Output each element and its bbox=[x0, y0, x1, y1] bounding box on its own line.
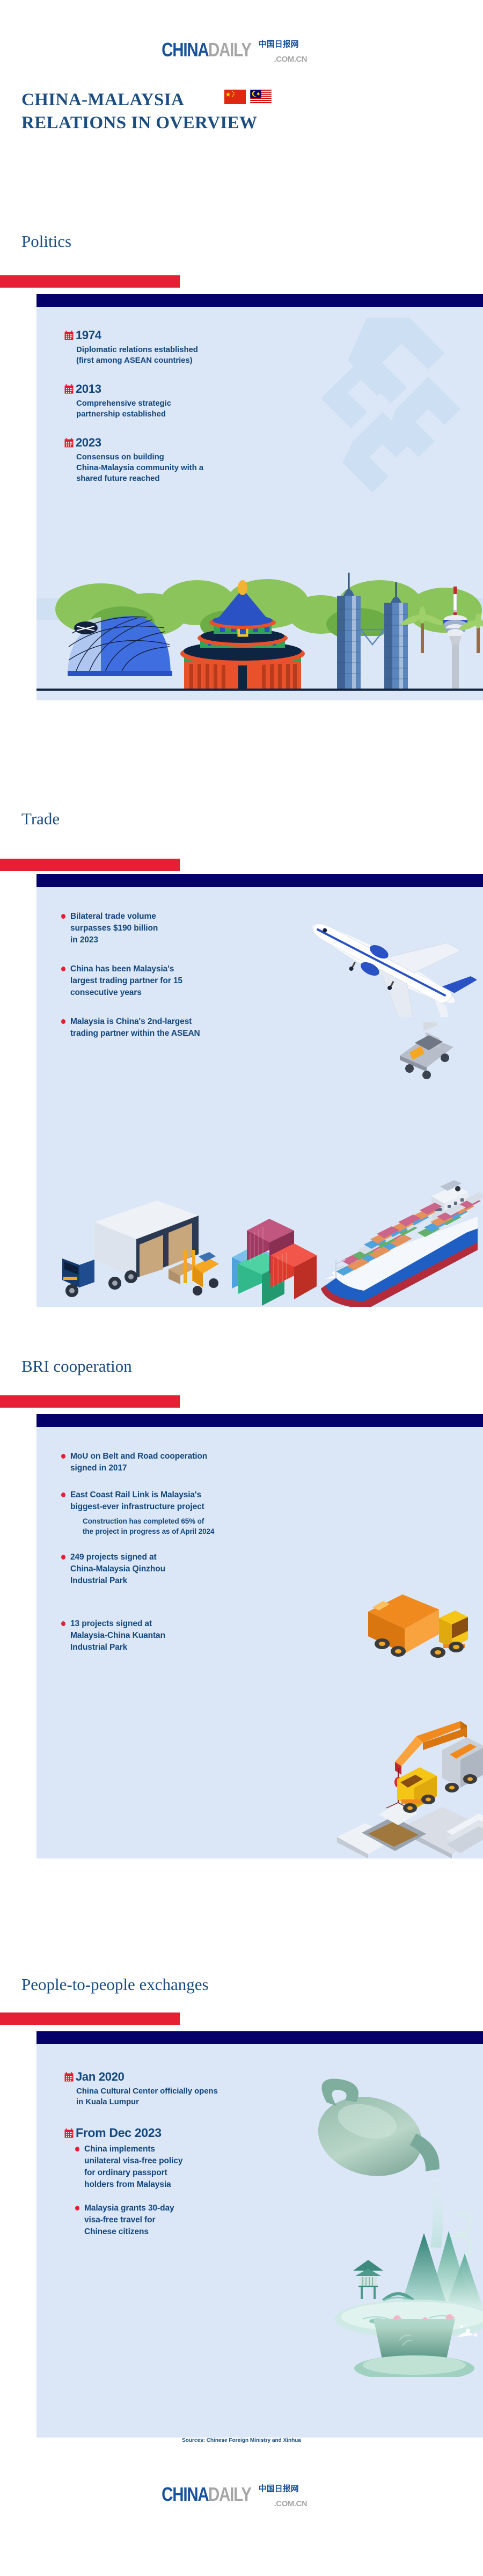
bullet-text: China implements unilateral visa-free po… bbox=[84, 2143, 182, 2191]
event-year-row: From Dec 2023 bbox=[64, 2126, 483, 2140]
bullet-text: East Coast Rail Link is Malaysia's bigge… bbox=[70, 1489, 204, 1513]
event-people-dec2023: From Dec 2023 China implements unilatera… bbox=[57, 2126, 483, 2238]
section-heading-people: People-to-people exchanges bbox=[21, 1975, 209, 1994]
brand-chinese: 中国日报网 bbox=[259, 40, 299, 49]
crane-illustration bbox=[337, 1703, 483, 1858]
event-politics-1974: 1974 Diplomatic relations established (f… bbox=[57, 328, 483, 366]
chinadaily-logo-footer: CHINADAILY中国日报网.COM.CN bbox=[151, 2485, 332, 2504]
flag-group bbox=[224, 90, 272, 104]
bullet-dot-icon bbox=[61, 1454, 65, 1459]
bullet-text: China has been Malaysia's largest tradin… bbox=[70, 963, 182, 999]
card-bri: MoU on Belt and Road cooperation signed … bbox=[36, 1414, 483, 1858]
event-year: 2013 bbox=[76, 382, 101, 396]
event-politics-2013: 2013 Comprehensive strategic partnership… bbox=[57, 382, 483, 420]
bullet-text: Malaysia grants 30-day visa-free travel … bbox=[84, 2202, 174, 2238]
event-people-jan2020: Jan 2020 China Cultural Center officiall… bbox=[57, 2070, 483, 2107]
card-header-bar-trade bbox=[36, 874, 483, 887]
section-rule-politics bbox=[0, 275, 180, 288]
section-heading-trade: Trade bbox=[21, 809, 60, 829]
bullet-bri-3: 249 projects signed at China-Malaysia Qi… bbox=[61, 1552, 340, 1587]
bullet-text: Malaysia is China's 2nd-largest trading … bbox=[70, 1016, 200, 1040]
event-year-row: 1974 bbox=[64, 328, 483, 342]
card-header-bar-people bbox=[36, 2031, 483, 2044]
bullet-people-1: China implements unilateral visa-free po… bbox=[75, 2143, 279, 2191]
brand-daily: DAILY bbox=[208, 2485, 251, 2504]
infographic-page: CHINADAILY中国日报网.COM.CN CHINA-MALAYSIA RE… bbox=[0, 0, 483, 2576]
calendar-icon bbox=[64, 331, 74, 340]
section-rule-trade bbox=[0, 859, 180, 871]
card-body-politics: 1974 Diplomatic relations established (f… bbox=[36, 307, 483, 700]
bullet-bri-2: East Coast Rail Link is Malaysia's bigge… bbox=[61, 1489, 458, 1513]
bullet-dot-icon bbox=[61, 1621, 65, 1626]
card-people: Jan 2020 China Cultural Center officiall… bbox=[36, 2031, 483, 2438]
bullet-dot-icon bbox=[61, 1019, 65, 1024]
event-year: From Dec 2023 bbox=[76, 2126, 162, 2140]
brand-daily: DAILY bbox=[208, 40, 251, 60]
page-title: CHINA-MALAYSIA RELATIONS IN OVERVIEW bbox=[21, 89, 462, 135]
china-flag-icon bbox=[224, 90, 246, 104]
calendar-icon bbox=[64, 438, 74, 448]
section-heading-politics: Politics bbox=[21, 232, 71, 251]
event-year: 2023 bbox=[76, 436, 101, 450]
dump-truck-illustration bbox=[358, 1572, 482, 1674]
event-year: Jan 2020 bbox=[76, 2070, 125, 2084]
bullet-text: Bilateral trade volume surpasses $190 bi… bbox=[70, 911, 158, 946]
bullet-dot-icon bbox=[75, 2206, 79, 2211]
brand-chinese: 中国日报网 bbox=[259, 2485, 299, 2493]
card-politics: 1974 Diplomatic relations established (f… bbox=[36, 294, 483, 700]
event-description: Comprehensive strategic partnership esta… bbox=[76, 398, 483, 420]
event-year-row: Jan 2020 bbox=[64, 2070, 483, 2084]
bullet-dot-icon bbox=[61, 914, 65, 919]
calendar-icon bbox=[64, 384, 74, 394]
card-body-bri: MoU on Belt and Road cooperation signed … bbox=[36, 1427, 483, 1858]
bullet-dot-icon bbox=[61, 967, 65, 971]
title-line-2: RELATIONS IN OVERVIEW bbox=[21, 112, 462, 135]
masthead-logo: CHINADAILY中国日报网.COM.CN bbox=[0, 40, 483, 60]
section-rule-bri bbox=[0, 1395, 180, 1408]
section-heading-bri: BRI cooperation bbox=[21, 1357, 132, 1376]
bullet-text: 13 projects signed at Malaysia-China Kua… bbox=[70, 1618, 165, 1653]
card-trade: Bilateral trade volume surpasses $190 bi… bbox=[36, 874, 483, 1307]
calendar-icon bbox=[64, 2128, 74, 2138]
sources-note: Sources: Chinese Foreign Ministry and Xi… bbox=[0, 2438, 483, 2443]
bullet-bri-1: MoU on Belt and Road cooperation signed … bbox=[61, 1451, 458, 1474]
bullet-bri-4: 13 projects signed at Malaysia-China Kua… bbox=[61, 1618, 340, 1653]
card-header-bar-bri bbox=[36, 1414, 483, 1427]
bullet-trade-2: China has been Malaysia's largest tradin… bbox=[61, 963, 362, 999]
event-description: Diplomatic relations established (first … bbox=[76, 345, 483, 366]
event-description: Consensus on building China-Malaysia com… bbox=[76, 452, 483, 484]
chinadaily-logo: CHINADAILY中国日报网.COM.CN bbox=[151, 40, 332, 60]
brand-china: CHINA bbox=[162, 2485, 208, 2504]
bullet-people-2: Malaysia grants 30-day visa-free travel … bbox=[75, 2202, 279, 2238]
brand-china: CHINA bbox=[162, 40, 208, 60]
event-politics-2023: 2023 Consensus on building China-Malaysi… bbox=[57, 436, 483, 484]
bullet-text: 249 projects signed at China-Malaysia Qi… bbox=[70, 1552, 165, 1587]
card-header-bar-politics bbox=[36, 294, 483, 307]
malaysia-flag-icon bbox=[250, 90, 272, 104]
event-year-row: 2013 bbox=[64, 382, 483, 396]
footer-logo: CHINADAILY中国日报网.COM.CN bbox=[0, 2485, 483, 2504]
card-body-trade: Bilateral trade volume surpasses $190 bi… bbox=[36, 887, 483, 1307]
bullet-dot-icon bbox=[61, 1555, 65, 1560]
china-malaysia-skyline-illustration bbox=[36, 539, 483, 700]
brand-domain: .COM.CN bbox=[274, 55, 308, 64]
event-description: China Cultural Center officially opens i… bbox=[76, 2086, 483, 2107]
bullet-bri-2-subtext: Construction has completed 65% of the pr… bbox=[83, 1516, 458, 1536]
event-year-row: 2023 bbox=[64, 436, 483, 450]
brand-domain: .COM.CN bbox=[274, 2499, 308, 2508]
section-rule-people bbox=[0, 2012, 180, 2025]
bullet-dot-icon bbox=[61, 1492, 65, 1497]
bullet-text: MoU on Belt and Road cooperation signed … bbox=[70, 1451, 207, 1474]
cargo-logistics-illustration bbox=[42, 1145, 483, 1307]
bullet-trade-1: Bilateral trade volume surpasses $190 bi… bbox=[61, 911, 340, 946]
calendar-icon bbox=[64, 2072, 74, 2082]
card-body-people: Jan 2020 China Cultural Center officiall… bbox=[36, 2044, 483, 2438]
event-year: 1974 bbox=[76, 328, 101, 342]
bullet-trade-3: Malaysia is China's 2nd-largest trading … bbox=[61, 1016, 437, 1040]
bullet-dot-icon bbox=[75, 2147, 79, 2151]
